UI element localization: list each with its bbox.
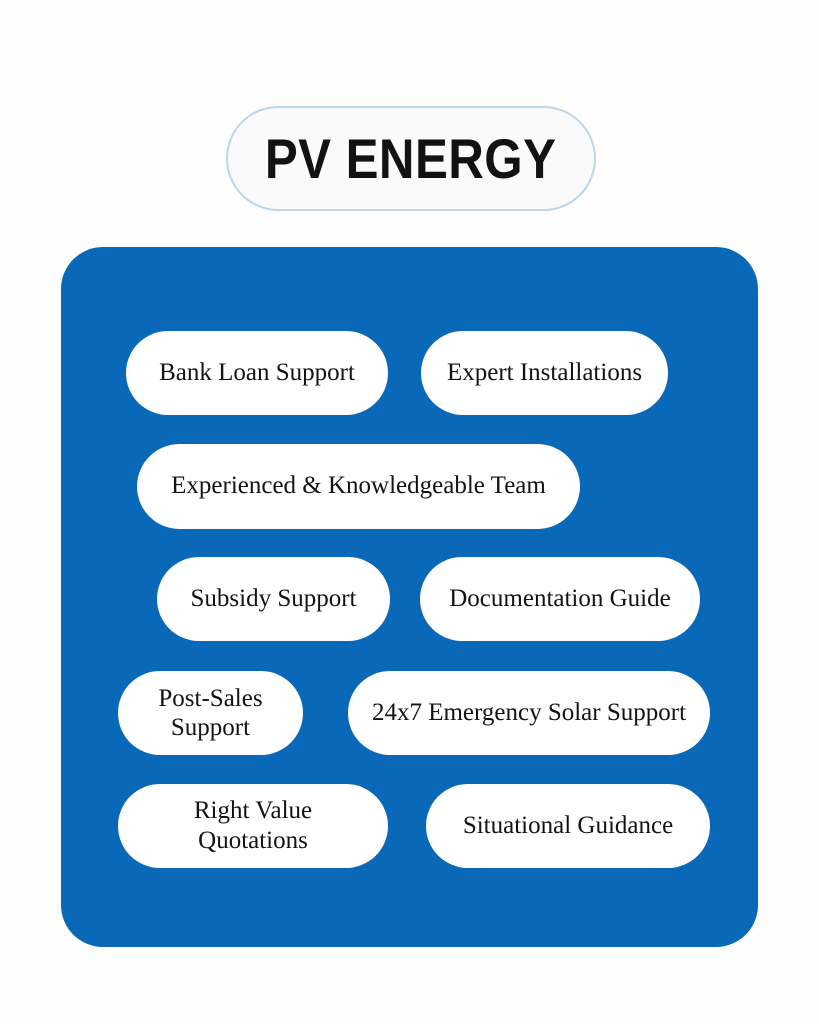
feature-pill[interactable]: Post-Sales Support	[118, 671, 303, 755]
feature-pill-label: Right Value Quotations	[136, 796, 370, 857]
feature-pill-label: Subsidy Support	[190, 584, 356, 615]
feature-pill[interactable]: Situational Guidance	[426, 784, 710, 868]
feature-pill[interactable]: Right Value Quotations	[118, 784, 388, 868]
feature-pill[interactable]: Documentation Guide	[420, 557, 700, 641]
feature-pill-label: Documentation Guide	[449, 584, 670, 615]
feature-pill[interactable]: Subsidy Support	[157, 557, 390, 641]
title-pill: PV ENERGY	[226, 106, 596, 211]
feature-pill-label: Situational Guidance	[463, 811, 673, 842]
feature-pill[interactable]: 24x7 Emergency Solar Support	[348, 671, 710, 755]
feature-pill-label: Expert Installations	[447, 358, 642, 389]
pv-energy-infographic: PV ENERGY Bank Loan SupportExpert Instal…	[0, 0, 819, 1024]
features-panel: Bank Loan SupportExpert InstallationsExp…	[61, 247, 758, 947]
feature-pill[interactable]: Experienced & Knowledgeable Team	[137, 444, 580, 529]
page-title: PV ENERGY	[265, 131, 557, 187]
feature-pill-label: Bank Loan Support	[159, 358, 355, 389]
feature-pill[interactable]: Expert Installations	[421, 331, 668, 415]
feature-pill-label: Post-Sales Support	[158, 684, 262, 743]
feature-pill[interactable]: Bank Loan Support	[126, 331, 388, 415]
feature-pill-label: 24x7 Emergency Solar Support	[372, 698, 686, 729]
feature-pill-label: Experienced & Knowledgeable Team	[171, 471, 546, 502]
